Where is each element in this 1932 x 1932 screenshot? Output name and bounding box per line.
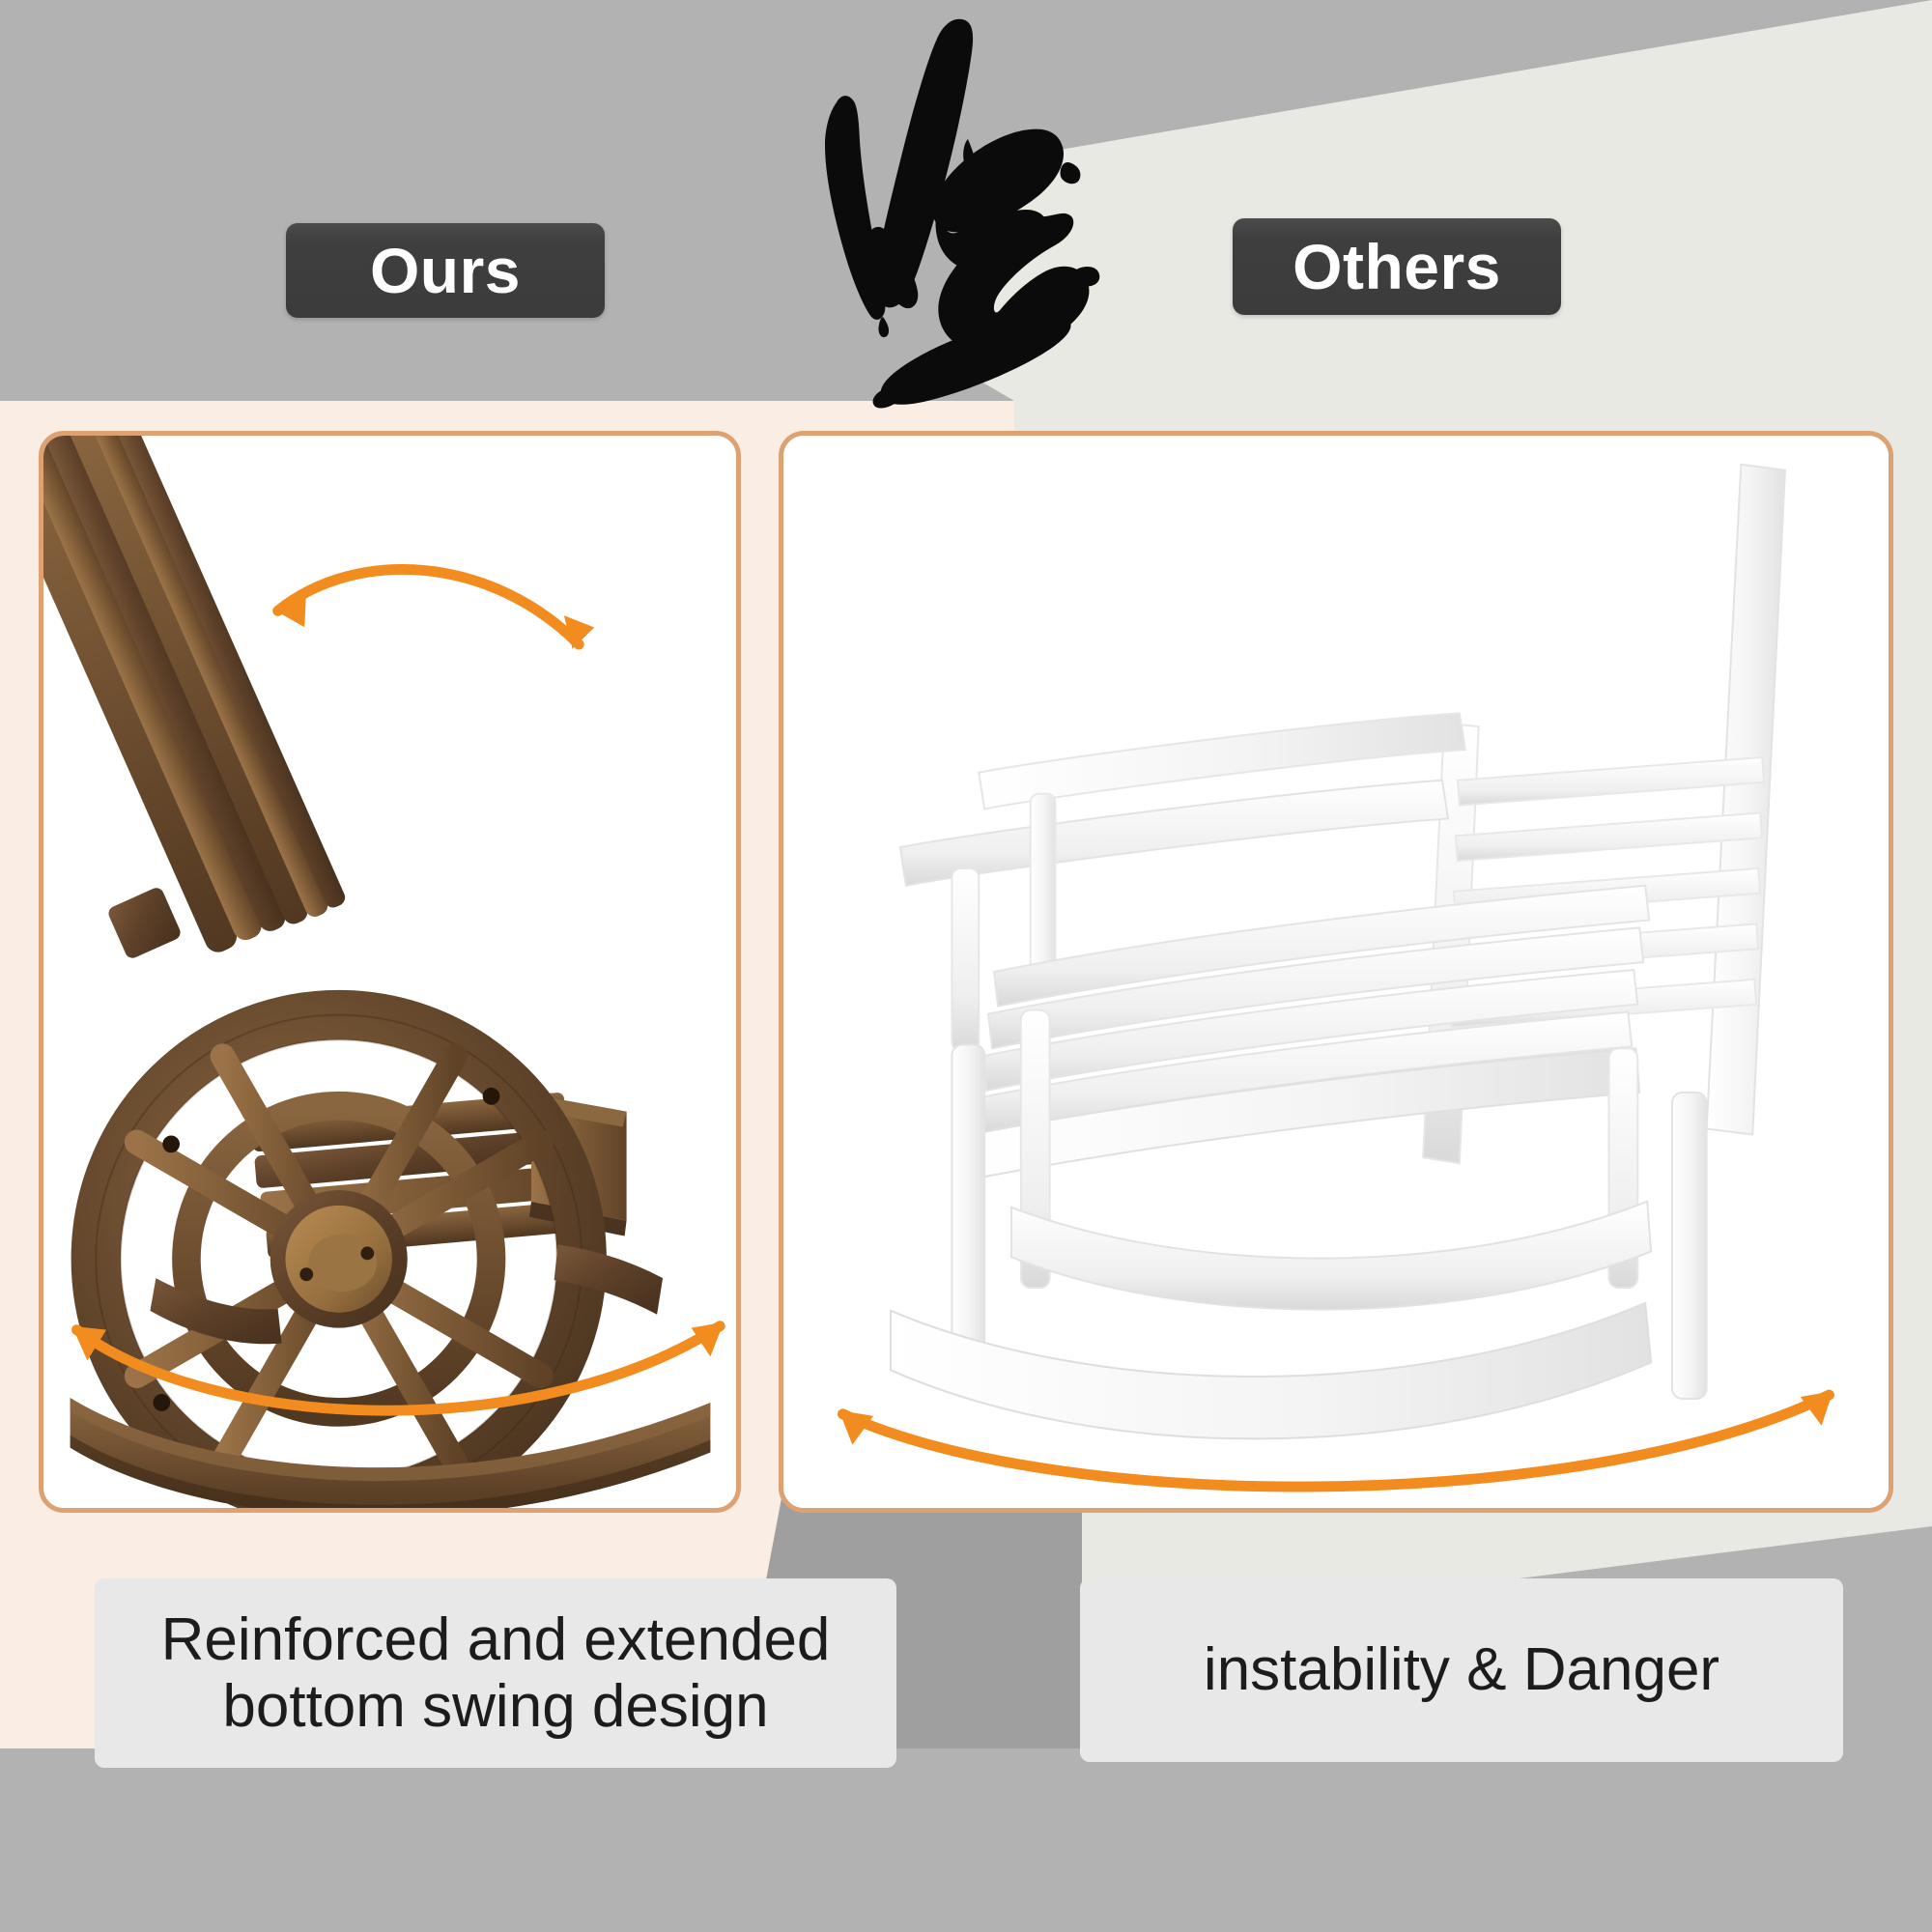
ours-product-illustration: [43, 436, 736, 1508]
others-product-illustration: [783, 436, 1889, 1508]
ours-product-card: [39, 431, 741, 1513]
caption-ours: Reinforced and extended bottom swing des…: [95, 1578, 896, 1768]
vs-brush-mark: [792, 10, 1140, 415]
wheel-hub-center: [308, 1235, 377, 1292]
caption-ours-line2: bottom swing design: [161, 1673, 831, 1740]
caption-ours-line1: Reinforced and extended: [161, 1606, 831, 1673]
caption-others: instability & Danger: [1080, 1578, 1843, 1762]
heading-badge-others: Others: [1233, 218, 1561, 315]
vs-icon: [792, 10, 1140, 415]
arm-spindle-near: [952, 868, 979, 1050]
chair-rear-leg-near: [1672, 1093, 1707, 1399]
others-product-card: [779, 431, 1893, 1513]
caption-others-line1: instability & Danger: [1204, 1636, 1719, 1703]
heading-badge-ours: Ours: [286, 223, 605, 318]
wagon-wheel: [96, 1015, 582, 1503]
arm-spindle-far: [1031, 794, 1056, 976]
